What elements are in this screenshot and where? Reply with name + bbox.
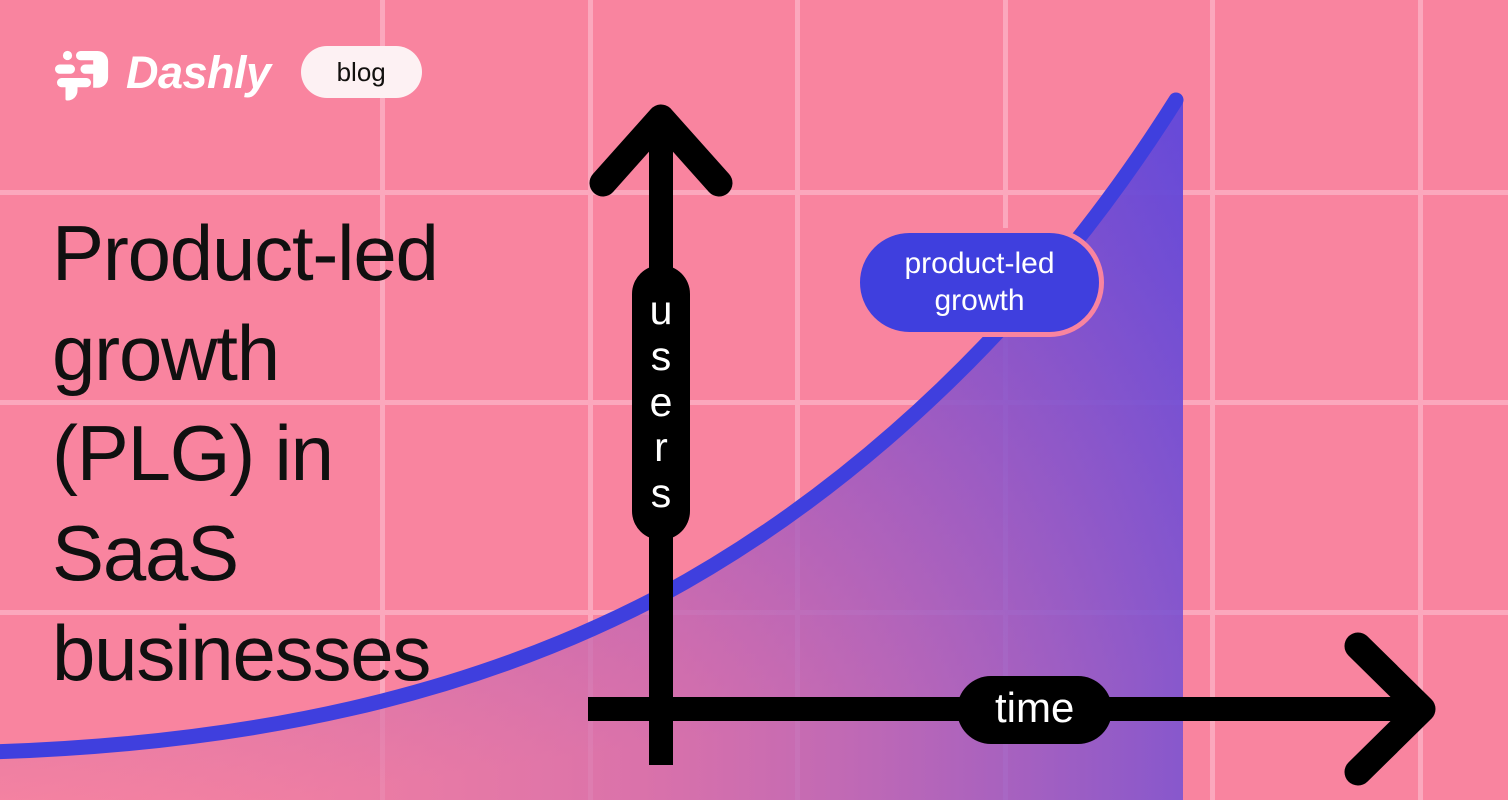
x-axis-label-time: time — [957, 676, 1112, 744]
users-letter-1: s — [651, 336, 672, 378]
dashly-speech-bubble-icon — [52, 42, 112, 102]
users-letter-0: u — [650, 290, 673, 332]
users-letter-4: s — [651, 473, 672, 515]
blog-badge[interactable]: blog — [301, 46, 422, 98]
brand-name: Dashly — [126, 50, 271, 95]
y-axis-label-users: users — [632, 265, 690, 540]
page-title: Product-led growth (PLG) in SaaS busines… — [52, 204, 572, 703]
brand-logo[interactable]: Dashly — [52, 42, 271, 102]
header: Dashly blog — [52, 42, 422, 102]
users-letter-3: r — [654, 427, 668, 469]
users-letter-2: e — [650, 382, 673, 424]
plg-annotation-bubble: product-led growth — [855, 228, 1104, 337]
promo-banner: Dashly blog Product-led growth (PLG) in … — [0, 0, 1508, 800]
